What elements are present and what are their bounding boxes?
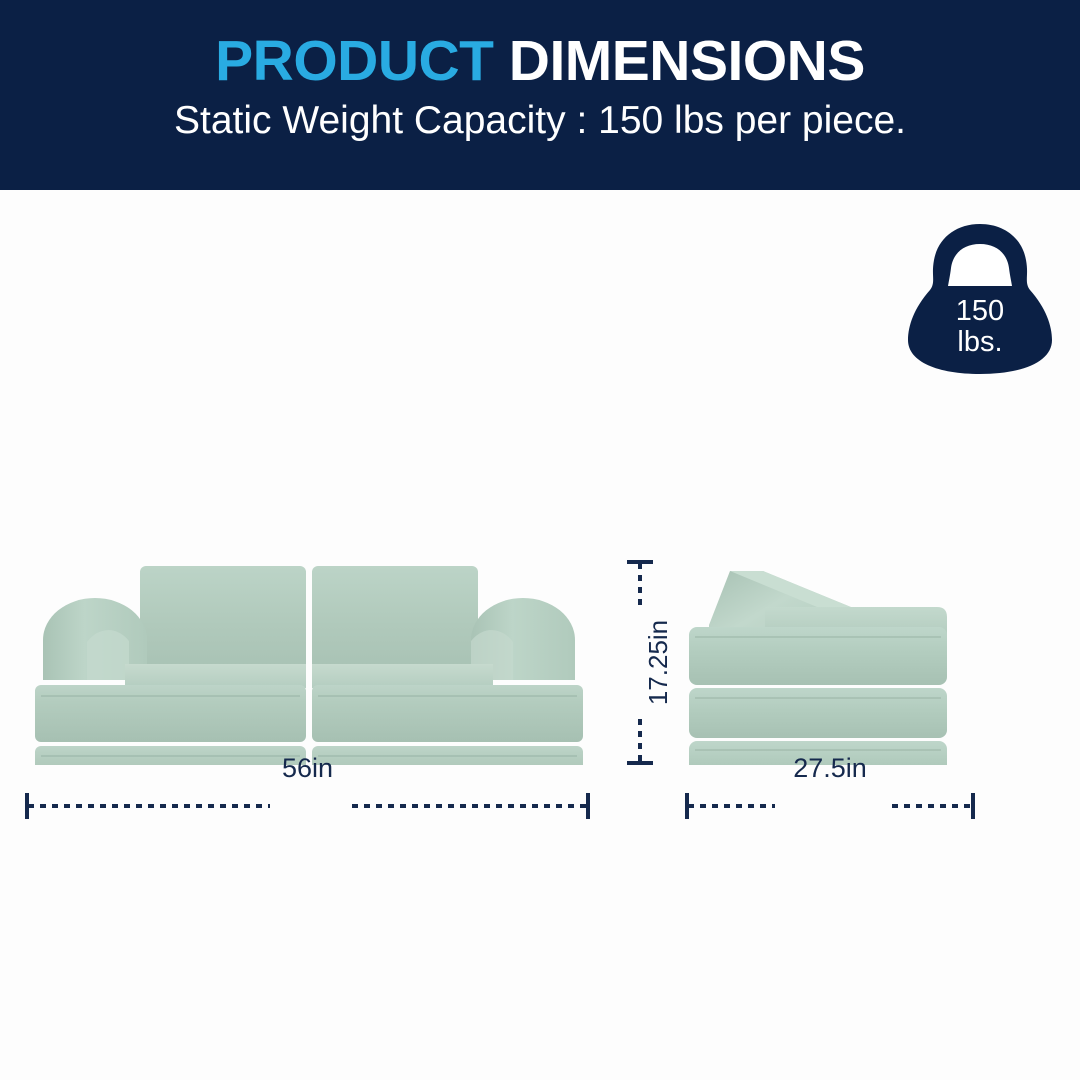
product-dimensions-infographic: PRODUCT DIMENSIONS Static Weight Capacit… (0, 0, 1080, 1080)
center-seam (306, 564, 312, 765)
dimension-width-56in: 56in (25, 785, 590, 825)
title-accent-word: PRODUCT (215, 29, 493, 93)
dimension-label-width: 56in (25, 753, 590, 784)
seat-cushion-left (125, 664, 306, 688)
sofa-front-view (25, 560, 590, 765)
dimension-label-height: 17.25in (644, 620, 675, 705)
weight-capacity-badge: 150 lbs. (900, 218, 1060, 378)
base-layer-middle-right (312, 685, 583, 742)
header-subtitle: Static Weight Capacity : 150 lbs per pie… (0, 100, 1080, 143)
dimension-depth-27.5in: 27.5in (685, 785, 975, 825)
base-layer-middle-left (35, 685, 306, 742)
kettlebell-icon (900, 218, 1060, 378)
title-plain-word: DIMENSIONS (493, 29, 864, 93)
dimension-height-17.25in: 17.25in (620, 560, 660, 765)
back-cushion-left (140, 566, 306, 674)
base-layer-middle (689, 688, 947, 738)
back-cushion-right (312, 566, 478, 674)
dimension-label-depth: 27.5in (685, 753, 975, 784)
sofa-side-view (685, 555, 975, 765)
seat-cushion-right (312, 664, 493, 688)
page-title: PRODUCT DIMENSIONS (0, 33, 1080, 90)
seat-cushion (689, 627, 947, 685)
